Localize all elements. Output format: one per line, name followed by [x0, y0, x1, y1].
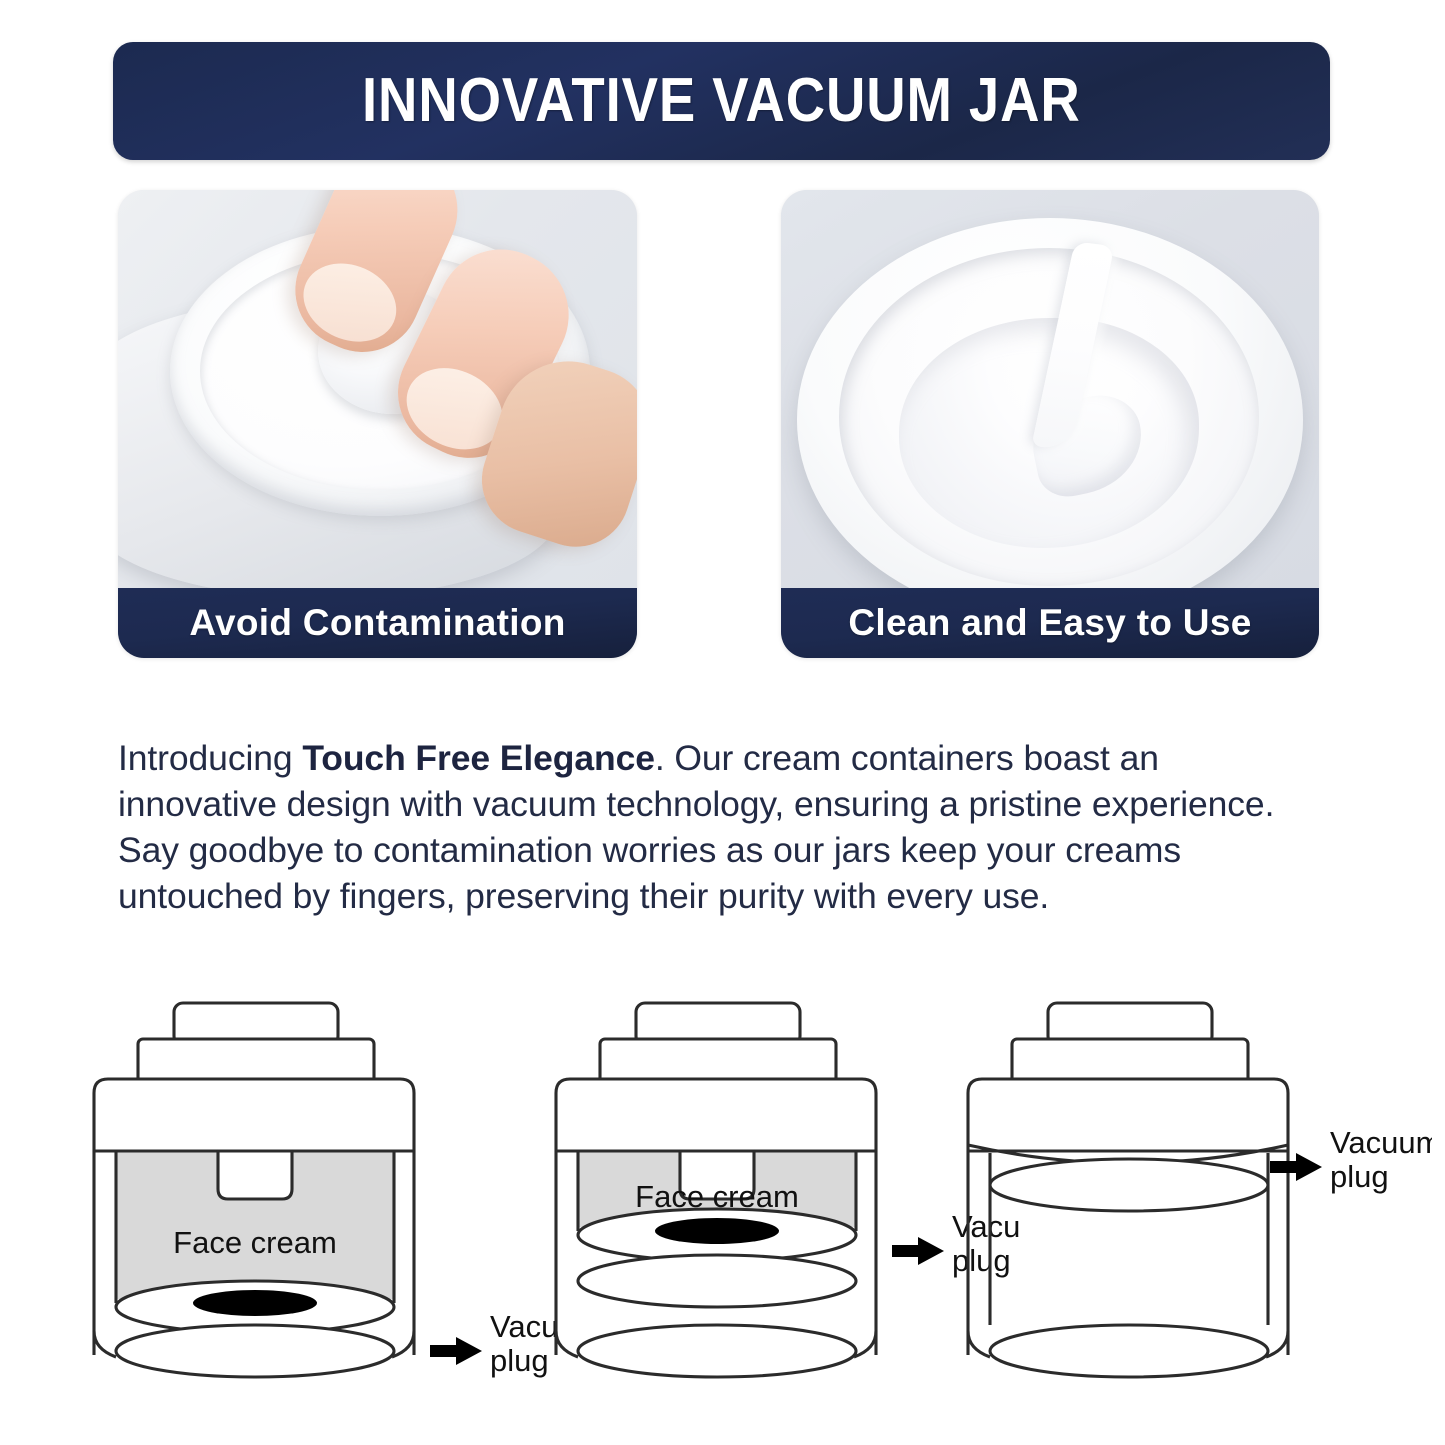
caption-bar-avoid-contamination: Avoid Contamination: [118, 588, 637, 658]
jar-diagram-empty: Vacuum plug: [952, 985, 1432, 1435]
jar-content-label: Face cream: [173, 1225, 337, 1260]
jar-diagram-partial: Face cream Vacuum plug: [540, 985, 1020, 1435]
caption-label: Avoid Contamination: [189, 602, 565, 644]
plug-label-line2: plug: [1330, 1159, 1389, 1194]
feature-card-avoid-contamination: Avoid Contamination: [118, 190, 637, 658]
photo-finger-on-cream-dome: [118, 190, 637, 588]
infographic-page: INNOVATIVE VACUUM JAR Avoid Contaminatio…: [0, 0, 1445, 1445]
header-banner: INNOVATIVE VACUUM JAR: [113, 42, 1330, 160]
paragraph-lead-prefix: Introducing: [118, 738, 302, 778]
paragraph-bold-phrase: Touch Free Elegance: [302, 738, 655, 778]
photo-open-jar-with-cream: [781, 190, 1319, 588]
caption-label: Clean and Easy to Use: [848, 602, 1251, 644]
description-paragraph: Introducing Touch Free Elegance. Our cre…: [118, 735, 1298, 919]
jar-diagram-group: Face cream Vacuum plug: [0, 985, 1445, 1435]
page-title: INNOVATIVE VACUUM JAR: [362, 70, 1081, 132]
caption-bar-clean-easy-to-use: Clean and Easy to Use: [781, 588, 1319, 658]
jar-rim: [797, 218, 1303, 588]
plug-label-line1: Vacuum: [1330, 1125, 1432, 1160]
jar-diagram-full: Face cream Vacuum plug: [78, 985, 558, 1435]
jar-opening: [839, 248, 1259, 586]
feature-card-clean-easy-to-use: Clean and Easy to Use: [781, 190, 1319, 658]
jar-content-label: Face cream: [635, 1179, 799, 1214]
